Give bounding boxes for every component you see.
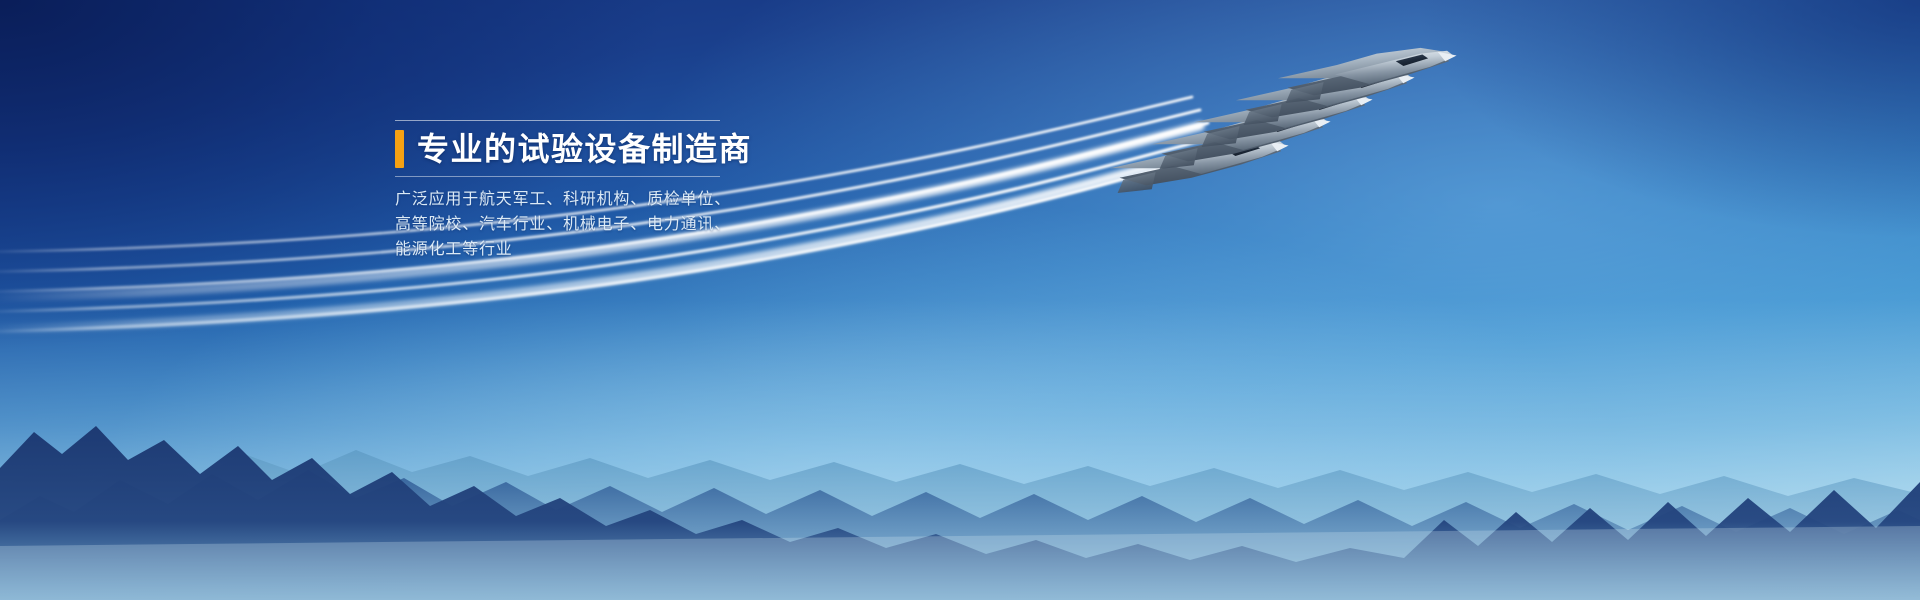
fighter-jet-formation-icon — [1100, 40, 1520, 290]
jet-5 — [1110, 138, 1289, 193]
mountain-mid — [0, 470, 1920, 600]
jet-3 — [1194, 92, 1373, 147]
page-title: 专业的试验设备制造商 — [417, 130, 752, 168]
mountain-near — [0, 426, 1920, 600]
jet-1-lead — [1278, 48, 1457, 103]
subtitle-line-2: 高等院校、汽车行业、机械电子、电力通讯、 — [395, 212, 755, 237]
subtitle-line-1: 广泛应用于航天军工、科研机构、质检单位、 — [395, 187, 755, 212]
sky-vignette-top-right — [1220, 0, 1920, 300]
banner-text-block: 专业的试验设备制造商 广泛应用于航天军工、科研机构、质检单位、 高等院校、汽车行… — [395, 120, 755, 262]
accent-bar — [395, 130, 404, 168]
jet-2 — [1236, 70, 1415, 125]
hero-banner: 专业的试验设备制造商 广泛应用于航天军工、科研机构、质检单位、 高等院校、汽车行… — [0, 0, 1920, 600]
subtitle-line-3: 能源化工等行业 — [395, 237, 755, 262]
mountain-fog-band — [0, 526, 1920, 600]
subtitle-group: 广泛应用于航天军工、科研机构、质检单位、 高等院校、汽车行业、机械电子、电力通讯… — [395, 177, 755, 262]
contrail-group — [0, 0, 1920, 600]
jet-4 — [1152, 114, 1331, 169]
mountain-far — [0, 450, 1920, 600]
mountain-range-group — [0, 370, 1920, 600]
horizon-haze — [0, 300, 1920, 600]
headline-row: 专业的试验设备制造商 — [395, 121, 755, 176]
